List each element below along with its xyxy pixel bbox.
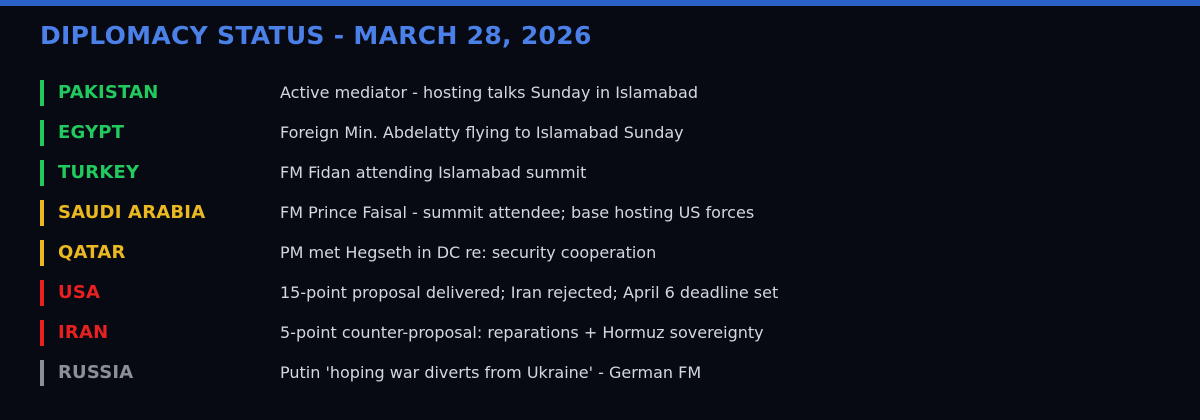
country-detail-text: Foreign Min. Abdelatty flying to Islamab… [280, 113, 684, 153]
status-row: USA15-point proposal delivered; Iran rej… [0, 273, 1200, 313]
country-label: EGYPT [58, 113, 124, 153]
country-label: PAKISTAN [58, 73, 159, 113]
country-detail-text: FM Prince Faisal - summit attendee; base… [280, 193, 754, 233]
status-accent-bar [40, 280, 44, 306]
status-row: SAUDI ARABIAFM Prince Faisal - summit at… [0, 193, 1200, 233]
country-label: USA [58, 273, 100, 313]
country-label: IRAN [58, 313, 108, 353]
status-list: PAKISTANActive mediator - hosting talks … [0, 73, 1200, 393]
status-accent-bar [40, 120, 44, 146]
diplomacy-status-panel: DIPLOMACY STATUS - MARCH 28, 2026 PAKIST… [0, 0, 1200, 420]
page-title: DIPLOMACY STATUS - MARCH 28, 2026 [40, 21, 592, 51]
top-accent-strip [0, 0, 1200, 6]
country-label: TURKEY [58, 153, 139, 193]
status-row: PAKISTANActive mediator - hosting talks … [0, 73, 1200, 113]
status-row: TURKEYFM Fidan attending Islamabad summi… [0, 153, 1200, 193]
status-accent-bar [40, 200, 44, 226]
country-label: RUSSIA [58, 353, 133, 393]
country-label: SAUDI ARABIA [58, 193, 205, 233]
country-detail-text: 5-point counter-proposal: reparations + … [280, 313, 764, 353]
status-row: QATARPM met Hegseth in DC re: security c… [0, 233, 1200, 273]
status-accent-bar [40, 240, 44, 266]
country-label: QATAR [58, 233, 126, 273]
status-row: EGYPTForeign Min. Abdelatty flying to Is… [0, 113, 1200, 153]
status-row: IRAN5-point counter-proposal: reparation… [0, 313, 1200, 353]
status-accent-bar [40, 360, 44, 386]
status-accent-bar [40, 80, 44, 106]
country-detail-text: Active mediator - hosting talks Sunday i… [280, 73, 698, 113]
status-row: RUSSIAPutin 'hoping war diverts from Ukr… [0, 353, 1200, 393]
status-accent-bar [40, 320, 44, 346]
status-accent-bar [40, 160, 44, 186]
country-detail-text: FM Fidan attending Islamabad summit [280, 153, 586, 193]
country-detail-text: 15-point proposal delivered; Iran reject… [280, 273, 778, 313]
country-detail-text: PM met Hegseth in DC re: security cooper… [280, 233, 656, 273]
country-detail-text: Putin 'hoping war diverts from Ukraine' … [280, 353, 701, 393]
